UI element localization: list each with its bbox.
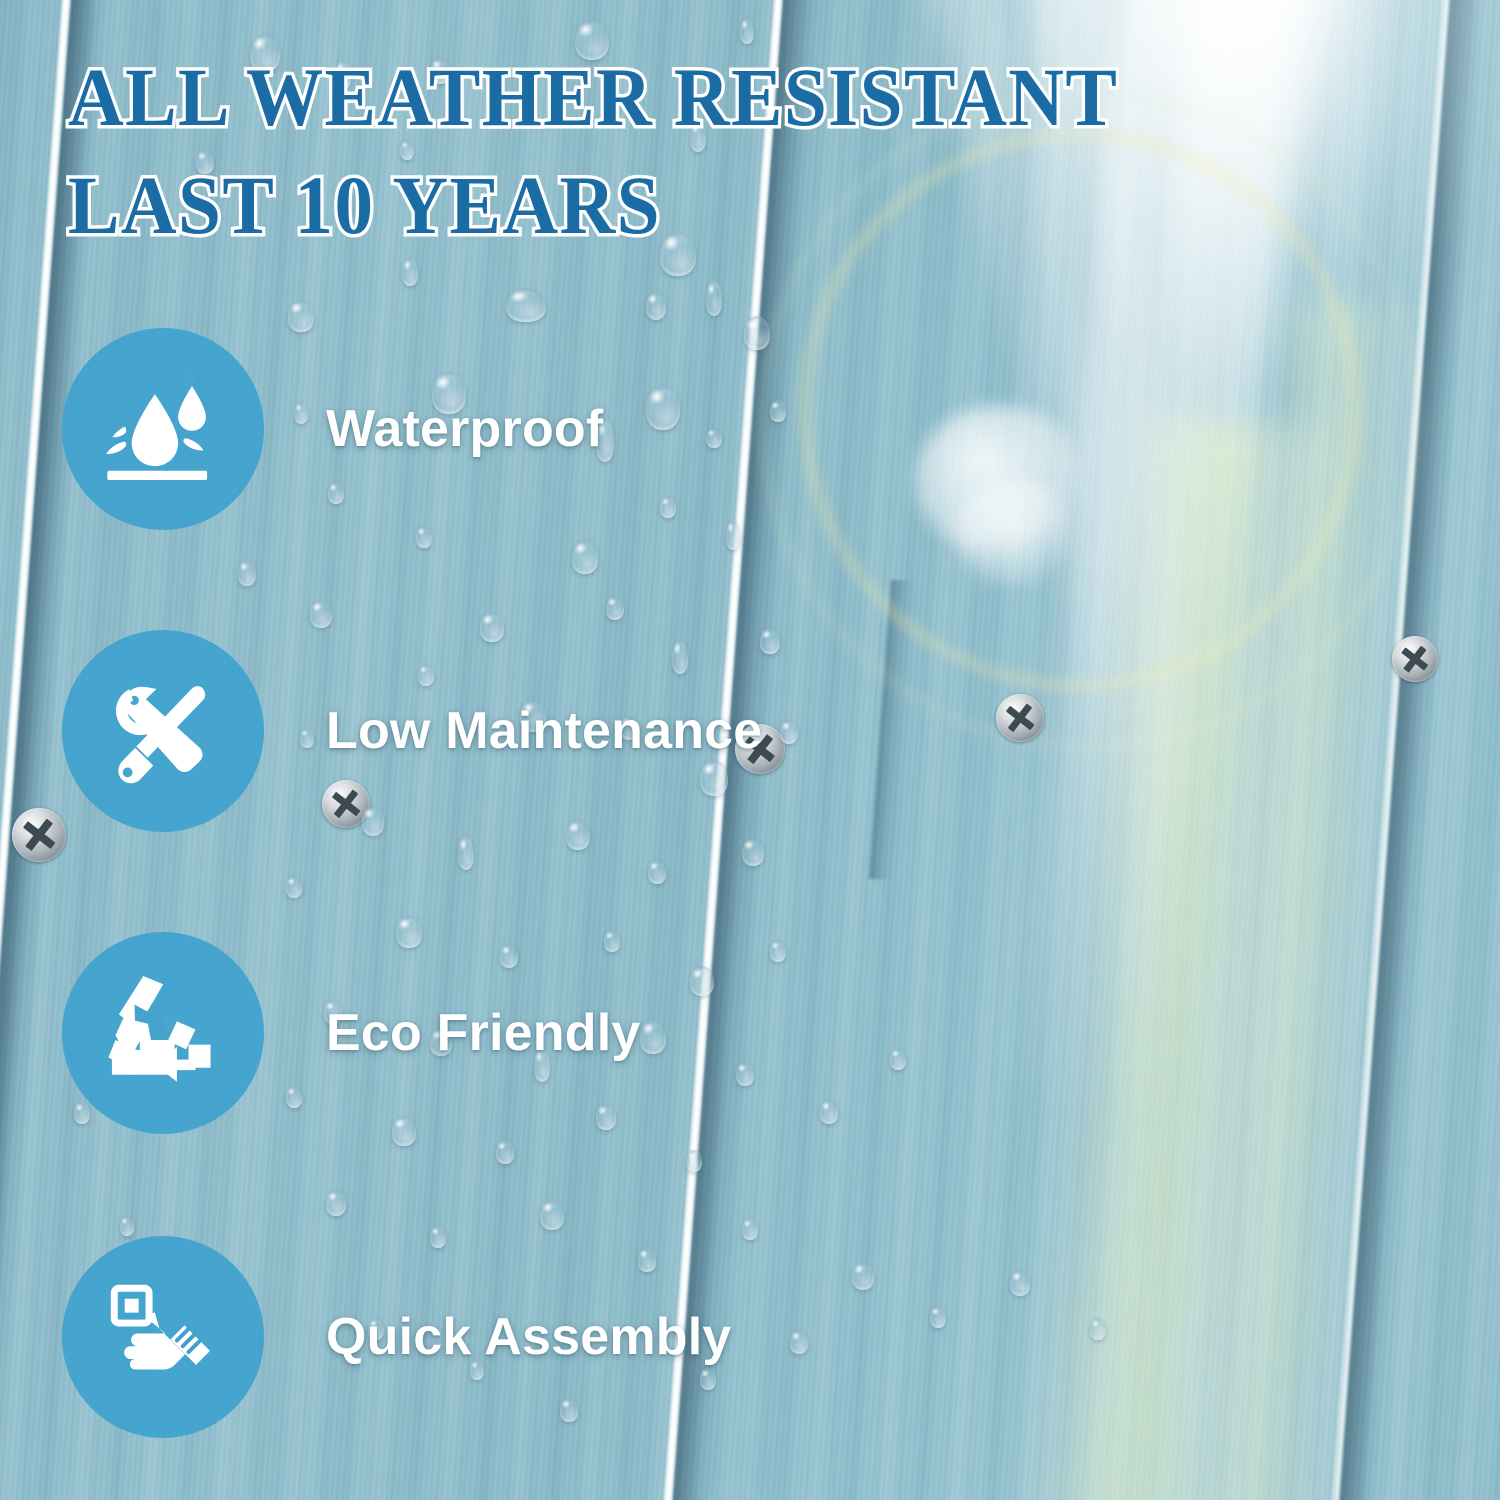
feature-row-eco-friendly: Eco Friendly [62, 932, 640, 1134]
headline-line-1: ALL WEATHER RESISTANT [68, 44, 1118, 152]
feature-label: Eco Friendly [326, 1003, 640, 1063]
headline-line-2: LAST 10 YEARS [68, 152, 1118, 260]
feature-row-low-maintenance: Low Maintenance [62, 630, 762, 832]
waterproof-droplet-icon [105, 371, 221, 487]
headline: ALL WEATHER RESISTANT LAST 10 YEARS [68, 44, 1197, 260]
screw-head [1392, 636, 1438, 682]
wrench-screwdriver-icon [105, 673, 221, 789]
feature-icon-badge [62, 328, 264, 530]
hand-assembly-icon [105, 1279, 221, 1395]
product-feature-graphic: ALL WEATHER RESISTANT LAST 10 YEARS Wate… [0, 0, 1500, 1500]
screw-head [996, 694, 1044, 742]
feature-label: Waterproof [326, 399, 603, 459]
feature-icon-badge [62, 1236, 264, 1438]
screw-head [12, 808, 66, 862]
feature-label: Low Maintenance [326, 701, 762, 761]
recycle-icon [105, 975, 221, 1091]
feature-row-quick-assembly: Quick Assembly [62, 1236, 732, 1438]
feature-row-waterproof: Waterproof [62, 328, 603, 530]
feature-icon-badge [62, 932, 264, 1134]
feature-label: Quick Assembly [326, 1307, 732, 1367]
feature-icon-badge [62, 630, 264, 832]
